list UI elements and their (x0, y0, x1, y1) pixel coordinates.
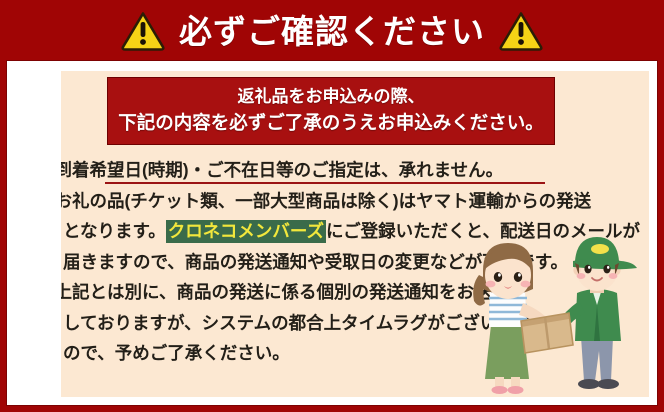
notice-line-1: 返礼品をお申込みの際、 (238, 85, 425, 110)
page-title: 必ずご確認ください (179, 15, 485, 48)
warning-triangle-icon (121, 11, 165, 51)
content-frame: 返礼品をお申込みの際、 下記の内容を必ずご了承のうえお申込みください。 ◆到着希… (6, 60, 658, 406)
list-item-text: 上記とは別に、商品の発送に係る個別の発送通知をお送り (61, 282, 509, 302)
list-item-text: 到着希望日(時期)・ご不在日等のご指定は、承れません。 (61, 160, 503, 180)
content-area: 返礼品をお申込みの際、 下記の内容を必ずご了承のうえお申込みください。 ◆到着希… (61, 71, 649, 397)
cardboard-box (521, 313, 573, 353)
list-item: ◆お礼の品(チケット類、一部大型商品は除く)はヤマト運輸からの発送 (61, 186, 601, 217)
notice-line-2: 下記の内容を必ずご了承のうえお申込みください。 (118, 110, 544, 137)
red-underline (105, 182, 545, 184)
warning-triangle-icon (499, 11, 543, 51)
text-before-highlight: となります。 (63, 221, 166, 241)
notice-poster: 必ずご確認ください 返礼品をお申込みの際、 下記の内容を必ずご了承のうえお申込み… (0, 0, 664, 412)
list-item-text: お礼の品(チケット類、一部大型商品は除く)はヤマト運輸からの発送 (61, 191, 591, 211)
delivery-handover-illustration (461, 229, 643, 397)
poster-header: 必ずご確認ください (0, 0, 664, 62)
list-item: ◆到着希望日(時期)・ご不在日等のご指定は、承れません。 (61, 155, 601, 186)
kuroneko-members-highlight: クロネコメンバーズ (166, 220, 326, 243)
notice-box: 返礼品をお申込みの際、 下記の内容を必ずご了承のうえお申込みください。 (107, 77, 555, 145)
